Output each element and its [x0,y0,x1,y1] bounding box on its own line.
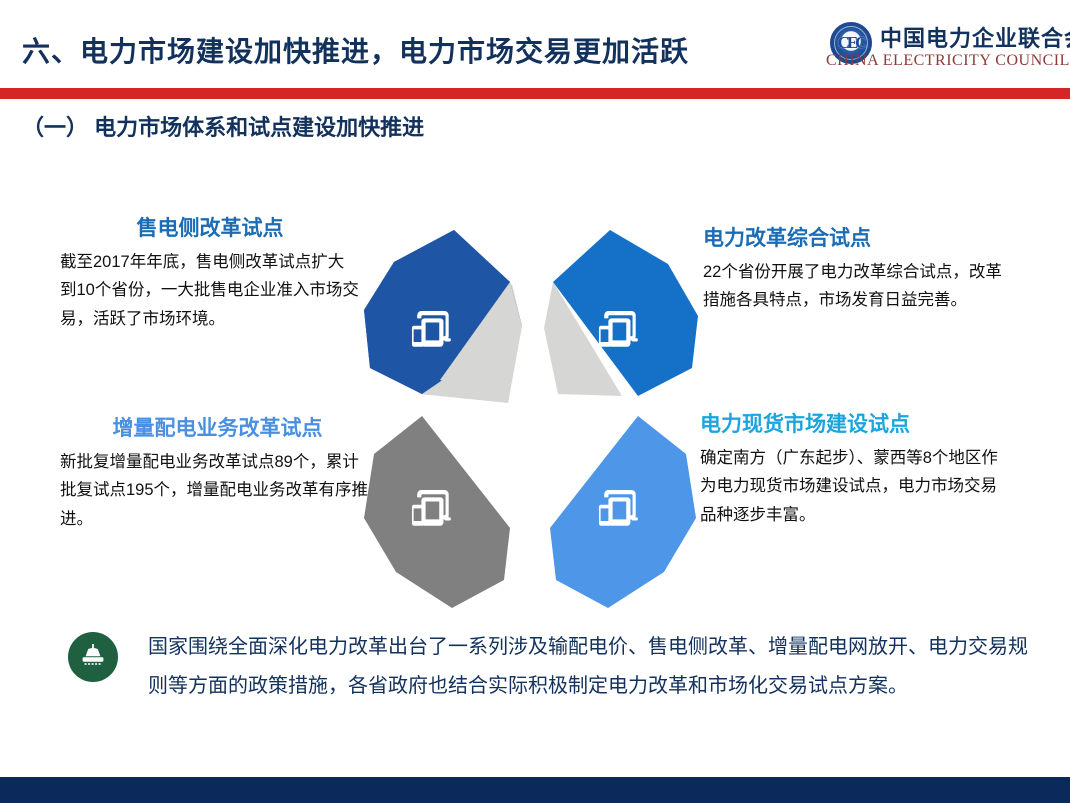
block-title: 电力改革综合试点 [703,222,1003,252]
logo-name-cn: 中国电力企业联合会 [880,21,1070,53]
shape-bottom-right-main [550,416,696,608]
block-retail-side-reform-pilot: 售电侧改革试点 截至2017年年底，售电侧改革试点扩大到10个省份，一大批售电企… [60,212,360,333]
header-red-divider [0,88,1070,99]
shape-bottom-left-main [364,416,510,608]
block-power-reform-comprehensive-pilot: 电力改革综合试点 22个省份开展了电力改革综合试点，改革措施各具特点，市场发育日… [703,222,1003,315]
block-title: 电力现货市场建设试点 [700,408,1000,438]
block-body: 22个省份开展了电力改革综合试点，改革措施各具特点，市场发育日益完善。 [703,258,1003,315]
slide: 六、电力市场建设加快推进，电力市场交易更加活跃 CEC 中国电力企业联合会 CH… [0,0,1070,803]
block-spot-market-construction-pilot: 电力现货市场建设试点 确定南方（广东起步）、蒙西等8个地区作为电力现货市场建设试… [700,408,1000,529]
block-body: 新批复增量配电业务改革试点89个，累计批复试点195个，增量配电业务改革有序推进… [60,448,375,533]
page-title: 六、电力市场建设加快推进，电力市场交易更加活跃 [22,30,689,70]
logo-name-en: CHINA ELECTRICITY COUNCIL [826,52,1070,70]
slide-header: 六、电力市场建设加快推进，电力市场交易更加活跃 CEC 中国电力企业联合会 CH… [0,0,1070,90]
section-subtitle: （一） 电力市场体系和试点建设加快推进 [22,110,424,142]
stamp-seal-icon [68,632,118,682]
block-incremental-distribution-reform-pilot: 增量配电业务改革试点 新批复增量配电业务改革试点89个，累计批复试点195个，增… [60,412,375,533]
organization-logo: CEC 中国电力企业联合会 CHINA ELECTRICITY COUNCIL [822,20,1062,82]
summary-note-text: 国家围绕全面深化电力改革出台了一系列涉及输配电价、售电侧改革、增量配电网放开、电… [148,628,1028,706]
block-title: 售电侧改革试点 [60,212,360,242]
four-pillar-diagram [362,228,702,613]
footer-bar [0,777,1070,803]
block-body: 截至2017年年底，售电侧改革试点扩大到10个省份，一大批售电企业准入市场交易，… [60,248,360,333]
diagram-shape-bottom-right [550,416,696,608]
diagram-shape-bottom-left [364,416,510,608]
diagram-shape-top-right [544,230,698,396]
block-title: 增量配电业务改革试点 [60,412,375,442]
block-body: 确定南方（广东起步）、蒙西等8个地区作为电力现货市场建设试点，电力市场交易品种逐… [700,444,1000,529]
